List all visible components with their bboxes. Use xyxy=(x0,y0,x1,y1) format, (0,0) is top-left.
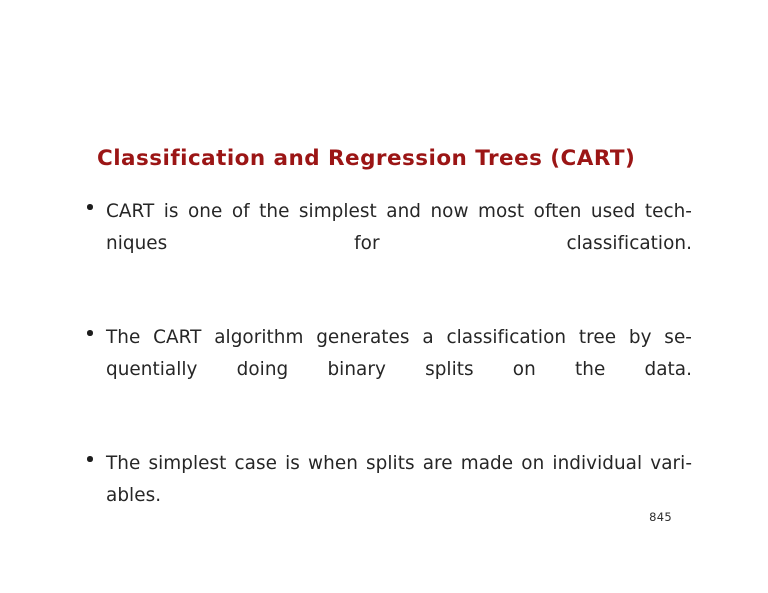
bullet-dot-icon xyxy=(87,204,93,210)
bullet-dot-icon xyxy=(87,330,93,336)
page-number: 845 xyxy=(0,510,672,524)
list-item: The simplest case is when splits are mad… xyxy=(86,448,692,544)
slide-canvas: Classification and Regression Trees (CAR… xyxy=(0,0,768,593)
list-item-text: The simplest case is when splits are mad… xyxy=(106,448,692,544)
list-item: The CART algorithm generates a classific… xyxy=(86,322,692,418)
list-item: CART is one of the simplest and now most… xyxy=(86,196,692,292)
bullet-dot-icon xyxy=(87,456,93,462)
page-title: Classification and Regression Trees (CAR… xyxy=(97,146,677,172)
bullet-list: CART is one of the simplest and now most… xyxy=(86,196,692,544)
list-item-text: The CART algorithm generates a classific… xyxy=(106,322,692,418)
list-item-text: CART is one of the simplest and now most… xyxy=(106,196,692,292)
